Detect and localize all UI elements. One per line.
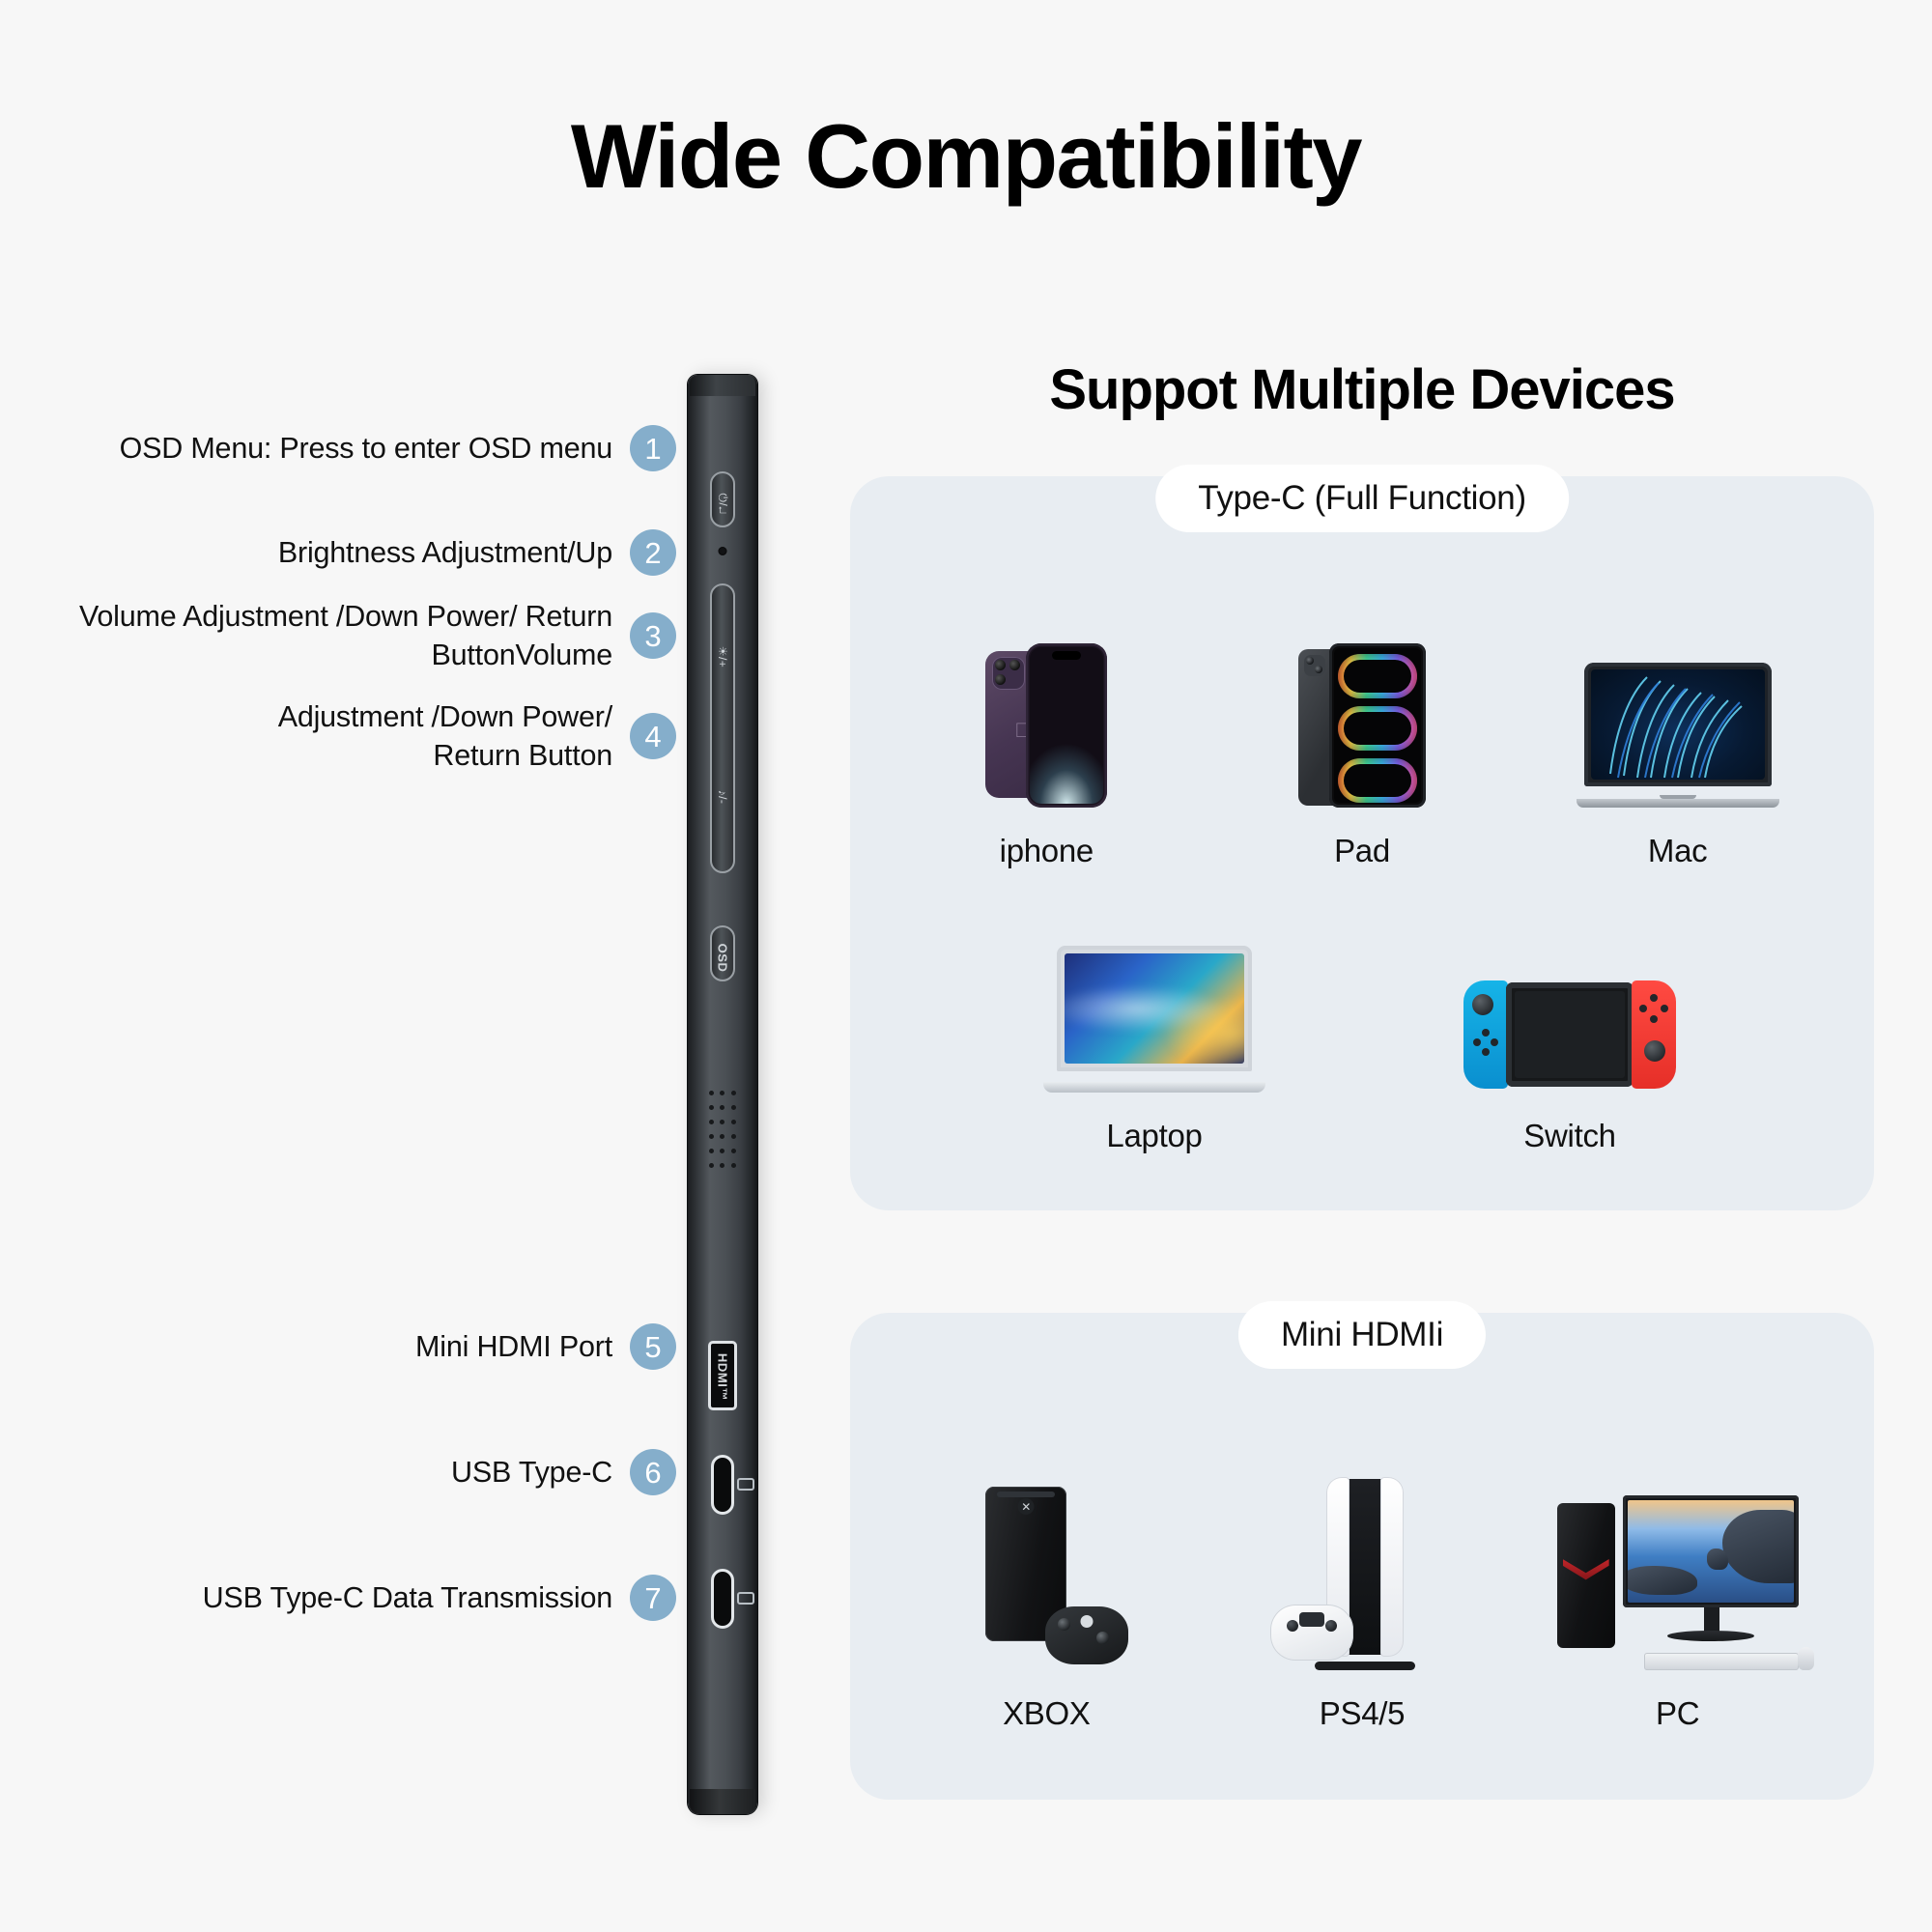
keyboard-icon	[1644, 1653, 1799, 1670]
callout-label: Brightness Adjustment/Up	[278, 533, 612, 572]
callout-label: Adjustment /Down Power/ Return Button	[265, 697, 612, 776]
device-laptop: Laptop	[1034, 914, 1275, 1154]
monitor-side-profile: ⏻/↵ ☀/+ ♪/- OSD HDMI™	[688, 375, 757, 1814]
xbox-art: ✕	[925, 1477, 1167, 1670]
speaker-grille-icon	[708, 1080, 737, 1184]
usb-type-c-port-1	[711, 1455, 734, 1515]
callout-item-4: Adjustment /Down Power/ Return Button 4	[58, 697, 676, 776]
callout-badge-7: 7	[630, 1575, 676, 1621]
callout-item-1: OSD Menu: Press to enter OSD menu 1	[58, 425, 676, 471]
joycon-left-icon	[1463, 980, 1508, 1089]
usb-c-glyph-icon	[737, 1592, 754, 1605]
device-pad: Pad	[1241, 629, 1483, 869]
joycon-right-icon	[1632, 980, 1676, 1089]
macbook-base-icon	[1577, 799, 1779, 808]
dynamic-island-icon	[1052, 651, 1081, 660]
led-indicator-icon	[719, 547, 727, 555]
xbox-controller-icon	[1045, 1606, 1128, 1664]
callout-item-7: USB Type-C Data Transmission 7	[58, 1575, 676, 1621]
laptop-base-icon	[1043, 1082, 1265, 1093]
callout-badge-4: 4	[630, 713, 676, 759]
pc-monitor-icon	[1623, 1495, 1799, 1607]
callout-badge-1: 1	[630, 425, 676, 471]
section-heading: Suppot Multiple Devices	[850, 357, 1874, 422]
type-c-device-row-1:  iphone	[889, 629, 1835, 869]
callout-item-3: Volume Adjustment /Down Power/ Return Bu…	[58, 597, 676, 675]
switch-art	[1449, 914, 1690, 1093]
page-title: Wide Compatibility	[0, 104, 1932, 209]
monitor-stand-icon	[1704, 1607, 1719, 1633]
dualsense-controller-icon	[1270, 1605, 1353, 1661]
camera-icon	[992, 657, 1025, 690]
mini-hdmi-pill-label: Mini HDMIi	[1238, 1301, 1486, 1369]
callout-item-5: Mini HDMI Port 5	[58, 1323, 676, 1370]
callout-item-6: USB Type-C 6	[58, 1449, 676, 1495]
callout-label: USB Type-C Data Transmission	[203, 1578, 612, 1617]
power-button[interactable]	[710, 471, 735, 527]
macbook-wallpaper-icon	[1591, 669, 1765, 780]
playstation-art	[1241, 1477, 1483, 1670]
iphone-front-icon	[1026, 643, 1107, 808]
mini-hdmi-device-row: ✕ XBOX	[889, 1477, 1835, 1732]
callout-item-2: Brightness Adjustment/Up 2	[58, 529, 676, 576]
callout-badge-3: 3	[630, 612, 676, 659]
device-xbox: ✕ XBOX	[925, 1477, 1167, 1732]
laptop-art	[1034, 914, 1275, 1093]
brightness-volume-rocker-button[interactable]	[710, 583, 735, 873]
callout-badge-5: 5	[630, 1323, 676, 1370]
device-label: XBOX	[1003, 1695, 1091, 1732]
callout-label: USB Type-C	[451, 1453, 612, 1492]
type-c-panel: Type-C (Full Function)  ip	[850, 476, 1874, 1210]
desktop-pc-art	[1557, 1477, 1799, 1670]
mouse-icon	[1798, 1647, 1814, 1670]
usb-c-glyph-icon	[737, 1478, 754, 1491]
iphone-art: 	[925, 629, 1167, 808]
hdmi-port-label: HDMI™	[716, 1353, 730, 1401]
ipad-art	[1241, 629, 1483, 808]
switch-screen-icon	[1506, 982, 1634, 1087]
macbook-art	[1557, 629, 1799, 808]
monitor-bottom-cap	[690, 1789, 755, 1814]
mini-hdmi-panel: Mini HDMIi ✕ XBOX	[850, 1313, 1874, 1800]
usb-type-c-port-2	[711, 1569, 734, 1629]
device-switch: Switch	[1449, 914, 1690, 1154]
laptop-lid-icon	[1057, 946, 1252, 1071]
callout-label: OSD Menu: Press to enter OSD menu	[120, 429, 612, 468]
ipad-front-icon	[1329, 643, 1426, 808]
osd-button[interactable]	[710, 925, 735, 981]
ps5-stand-icon	[1315, 1662, 1415, 1670]
device-label: Laptop	[1106, 1118, 1202, 1154]
device-label: PC	[1656, 1695, 1699, 1732]
device-label: Pad	[1334, 833, 1390, 869]
devices-column: Suppot Multiple Devices Type-C (Full Fun…	[850, 357, 1874, 1800]
device-label: iphone	[1000, 833, 1094, 869]
macbook-lid-icon	[1584, 663, 1772, 786]
type-c-device-row-2: Laptop Switc	[889, 914, 1835, 1154]
type-c-pill-label: Type-C (Full Function)	[1155, 465, 1569, 532]
device-iphone:  iphone	[925, 629, 1167, 869]
pc-tower-icon	[1557, 1503, 1615, 1648]
device-label: Mac	[1648, 833, 1707, 869]
device-label: Switch	[1523, 1118, 1615, 1154]
callout-badge-6: 6	[630, 1449, 676, 1495]
callout-label: Volume Adjustment /Down Power/ Return Bu…	[71, 597, 612, 675]
callout-badge-2: 2	[630, 529, 676, 576]
device-label: PS4/5	[1320, 1695, 1405, 1732]
device-pc: PC	[1557, 1477, 1799, 1732]
callout-label: Mini HDMI Port	[415, 1327, 612, 1366]
monitor-foot-icon	[1667, 1631, 1754, 1641]
device-mac: Mac	[1557, 629, 1799, 869]
camera-icon	[1304, 655, 1325, 676]
device-playstation: PS4/5	[1241, 1477, 1483, 1732]
monitor-top-cap	[690, 375, 755, 396]
